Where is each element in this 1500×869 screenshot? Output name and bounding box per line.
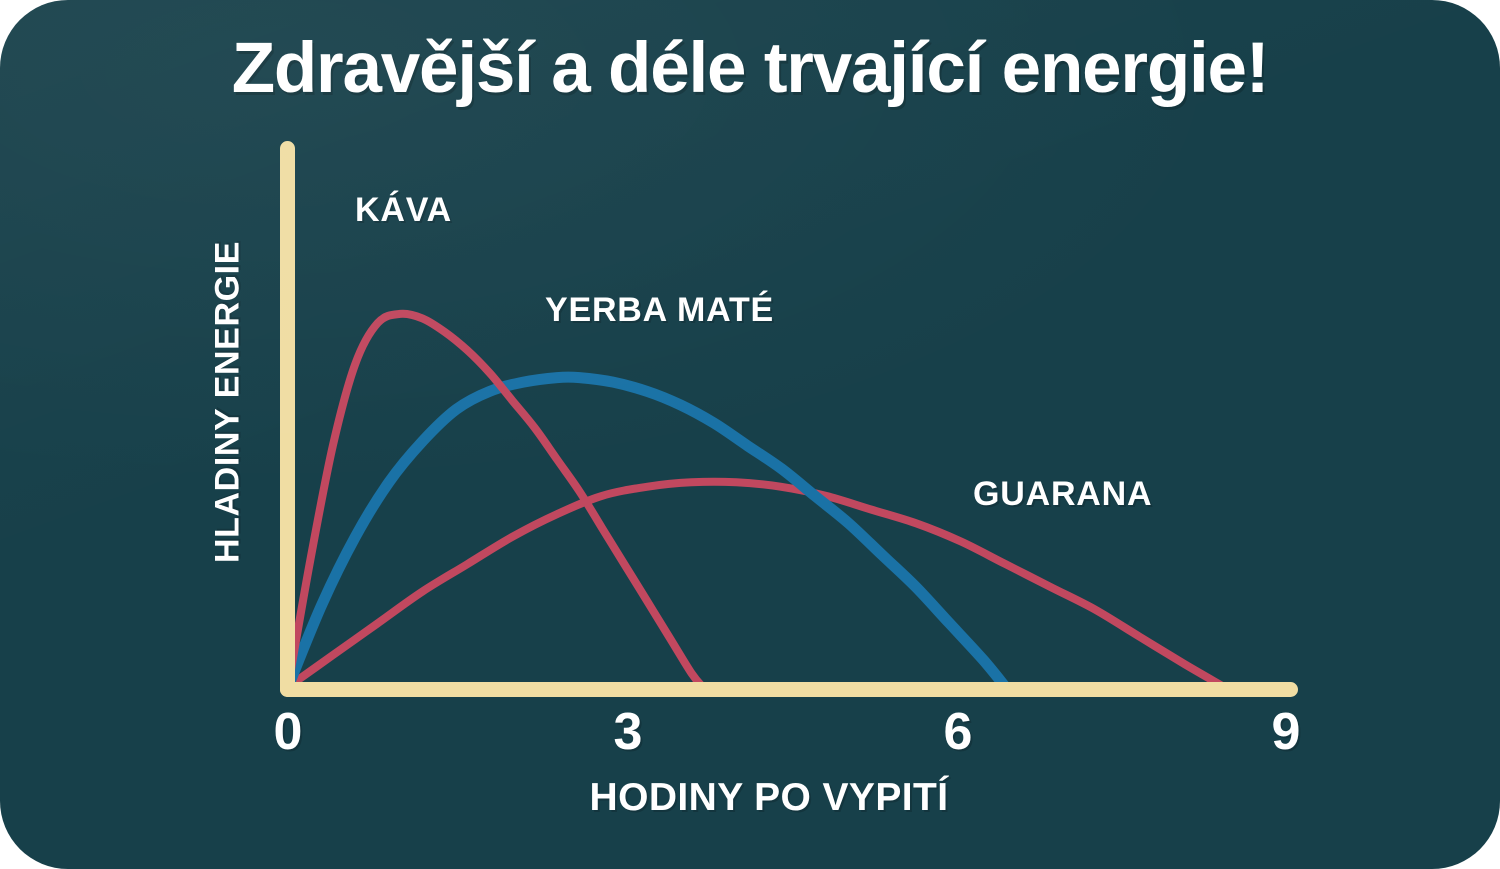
x-tick-label-3: 3 <box>588 702 668 762</box>
poster-stage: Zdravější a déle trvající energie! HLADI… <box>0 0 1500 869</box>
x-axis-line <box>280 682 1298 697</box>
series-label-kava: KÁVA <box>355 191 452 230</box>
curve-yerba-mate <box>288 377 1006 687</box>
curve-kava <box>288 314 703 687</box>
y-axis-title: HLADINY ENERGIE <box>209 241 248 563</box>
series-label-guarana: GUARANA <box>973 475 1152 514</box>
x-tick-label-6: 6 <box>918 702 998 762</box>
y-axis-line <box>280 141 295 697</box>
series-label-yerba-mate: YERBA MATÉ <box>545 291 774 330</box>
energy-levels-chart: HLADINY ENERGIE HODINY PO VYPITÍ 0 3 6 9… <box>0 0 1500 869</box>
poster-card: Zdravější a déle trvající energie! HLADI… <box>0 0 1500 869</box>
x-tick-label-9: 9 <box>1246 702 1326 762</box>
x-axis-title: HODINY PO VYPITÍ <box>0 776 1500 820</box>
x-tick-label-0: 0 <box>248 702 328 762</box>
